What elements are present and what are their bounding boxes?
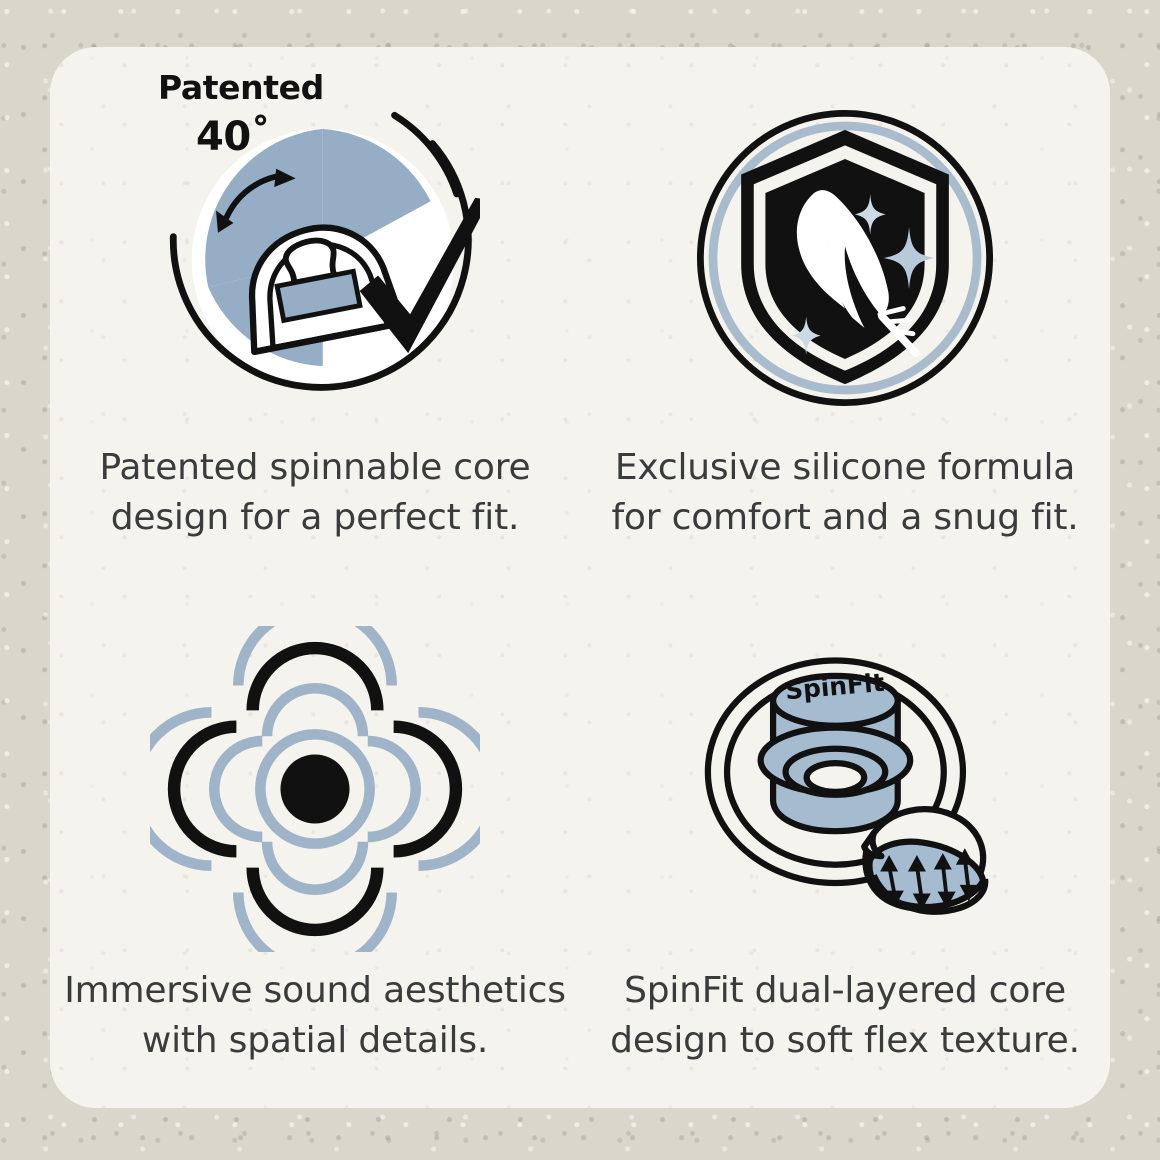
feature-grid: Patented 40˚ Patented spinnable core des…: [50, 47, 1110, 1108]
caption-line-2: for comfort and a snug fit.: [611, 493, 1078, 543]
feature-item-patented-spinnable-core: Patented 40˚ Patented spinnable core des…: [50, 47, 580, 578]
feature-caption: Immersive sound aesthetics with spatial …: [64, 966, 566, 1066]
caption-line-2: with spatial details.: [64, 1016, 566, 1066]
caption-line-1: Immersive sound aesthetics: [64, 966, 566, 1016]
feature-caption: SpinFit dual-layered core design to soft…: [610, 966, 1080, 1066]
caption-line-1: Exclusive silicone formula: [611, 443, 1078, 493]
sound-waves-icon: [150, 626, 480, 952]
feature-card: Patented 40˚ Patented spinnable core des…: [50, 47, 1110, 1108]
patented-label: Patented: [158, 71, 324, 105]
feature-item-spinfit-dual-layered-core: SpinFit: [580, 578, 1110, 1109]
caption-line-2: design to soft flex texture.: [610, 1016, 1080, 1066]
caption-line-1: Patented spinnable core: [100, 443, 531, 493]
feature-item-immersive-sound-aesthetics: Immersive sound aesthetics with spatial …: [50, 578, 580, 1109]
patented-badge: Patented 40˚: [158, 71, 324, 160]
caption-line-2: design for a perfect fit.: [100, 493, 531, 543]
angle-label: 40˚: [196, 114, 324, 160]
caption-line-1: SpinFit dual-layered core: [610, 966, 1080, 1016]
dual-layer-eartip-icon: SpinFit: [680, 626, 1010, 952]
feature-caption: Exclusive silicone formula for comfort a…: [611, 443, 1078, 543]
feature-caption: Patented spinnable core design for a per…: [100, 443, 531, 543]
feature-item-exclusive-silicone-formula: Exclusive silicone formula for comfort a…: [580, 47, 1110, 578]
icon-slot: [150, 626, 480, 952]
icon-slot: SpinFit: [680, 626, 1010, 952]
icon-slot: [680, 85, 1010, 431]
shield-feather-icon: [680, 85, 1010, 431]
